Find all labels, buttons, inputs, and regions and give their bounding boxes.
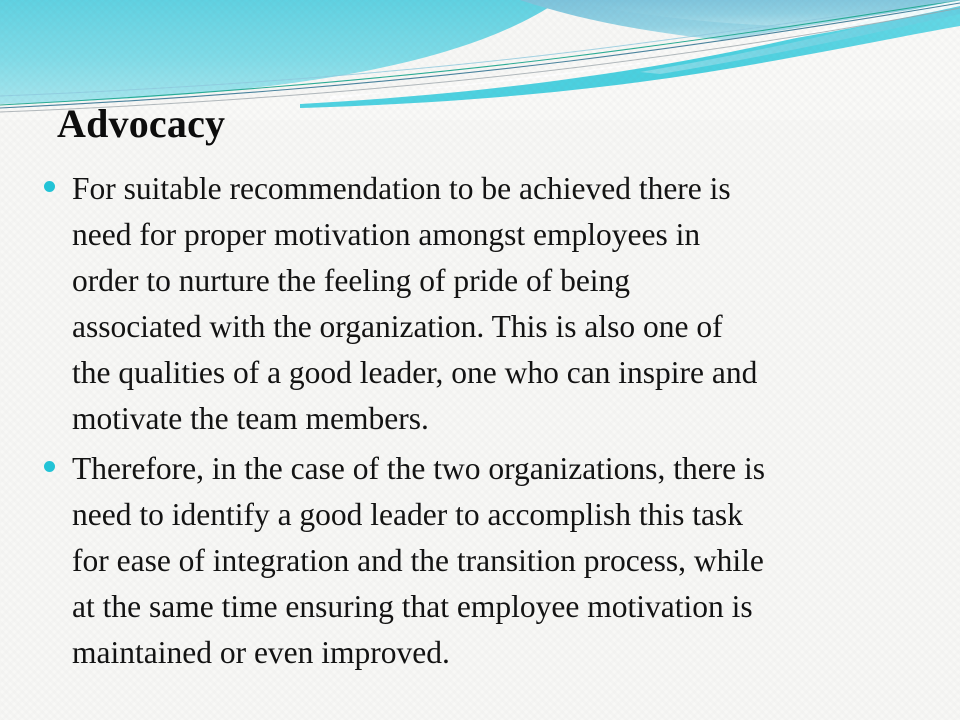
filled-circle-bullet-icon — [44, 181, 55, 192]
bullet-list: For suitable recommendation to be achiev… — [44, 166, 934, 680]
slide-content: Advocacy For suitable recommendation to … — [0, 0, 960, 720]
page-title: Advocacy — [57, 103, 225, 145]
list-item-text: Therefore, in the case of the two organi… — [72, 446, 934, 676]
list-item: For suitable recommendation to be achiev… — [44, 166, 934, 442]
list-item-text: For suitable recommendation to be achiev… — [72, 166, 934, 442]
filled-circle-bullet-icon — [44, 461, 55, 472]
list-item: Therefore, in the case of the two organi… — [44, 446, 934, 676]
slide-canvas: Advocacy For suitable recommendation to … — [0, 0, 960, 720]
